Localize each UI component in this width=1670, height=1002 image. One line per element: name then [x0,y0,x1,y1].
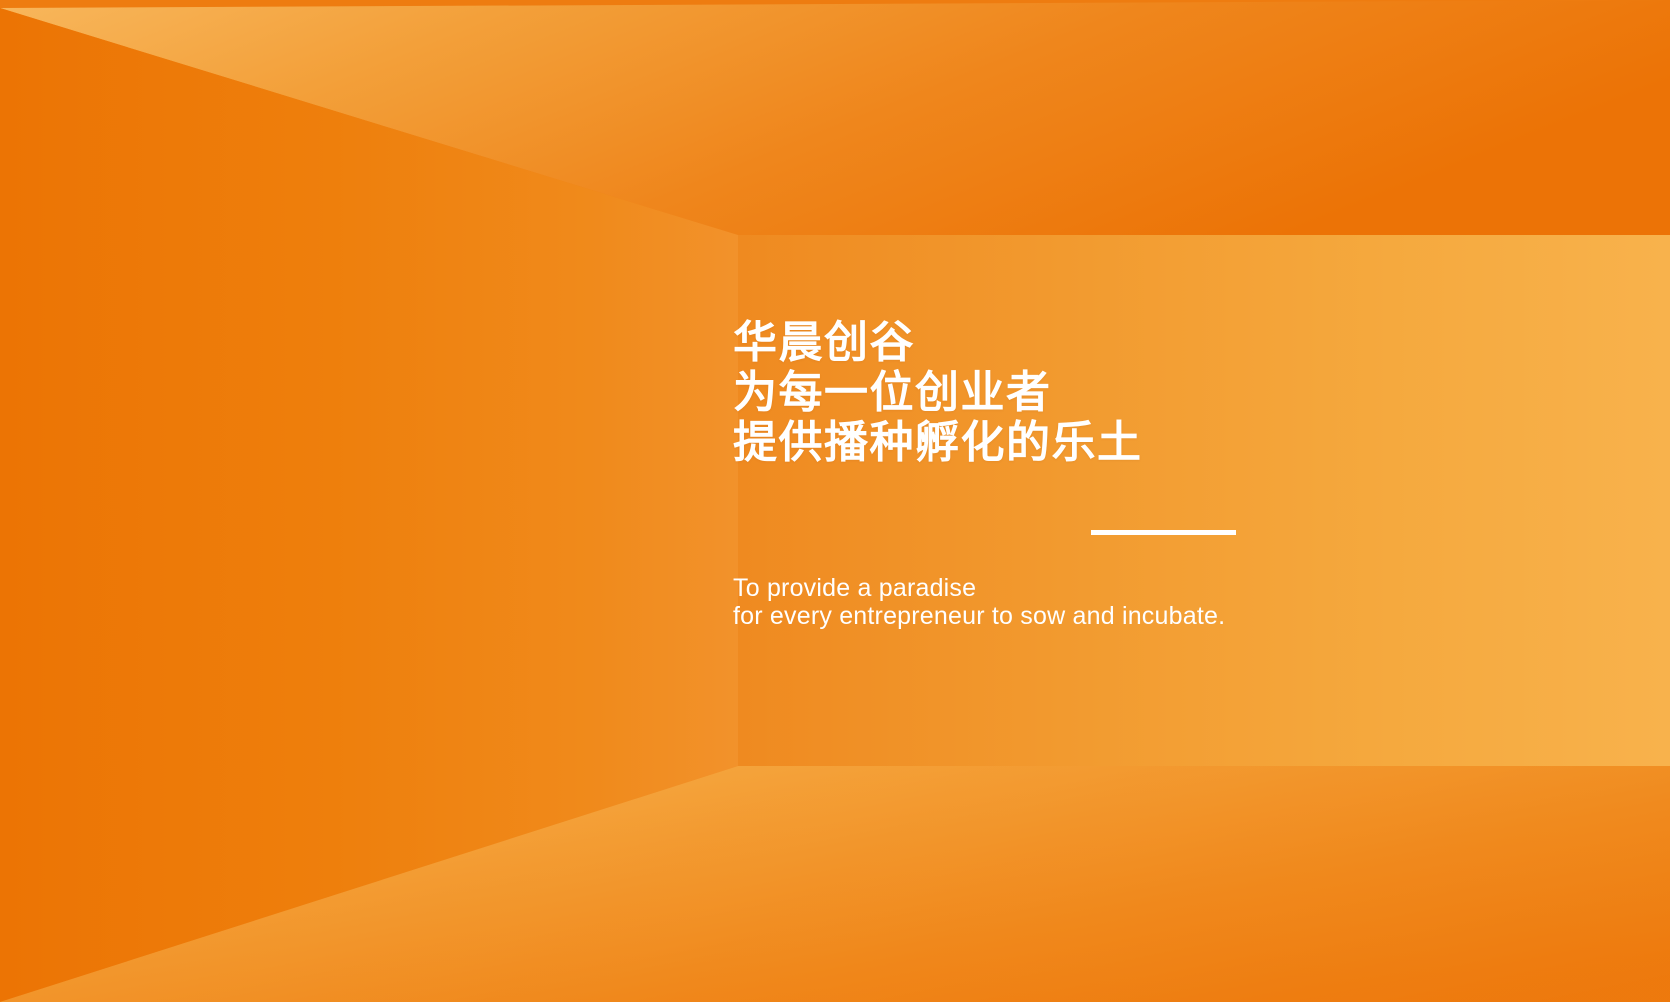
headline-line-1: 华晨创谷 [733,318,1593,368]
headline-line-3: 提供播种孵化的乐土 [733,418,1593,468]
page-title: 华晨创谷 为每一位创业者 提供播种孵化的乐土 [733,318,1593,468]
poster-content: 华晨创谷 为每一位创业者 提供播种孵化的乐土 To provide a para… [733,318,1593,630]
subtitle-line-2: for every entrepreneur to sow and incuba… [733,602,1593,630]
headline-line-2: 为每一位创业者 [733,368,1593,418]
subtitle-line-1: To provide a paradise [733,574,1593,602]
subtitle-text: To provide a paradise for every entrepre… [733,535,1593,630]
poster-canvas: 华晨创谷 为每一位创业者 提供播种孵化的乐土 To provide a para… [0,0,1670,1002]
